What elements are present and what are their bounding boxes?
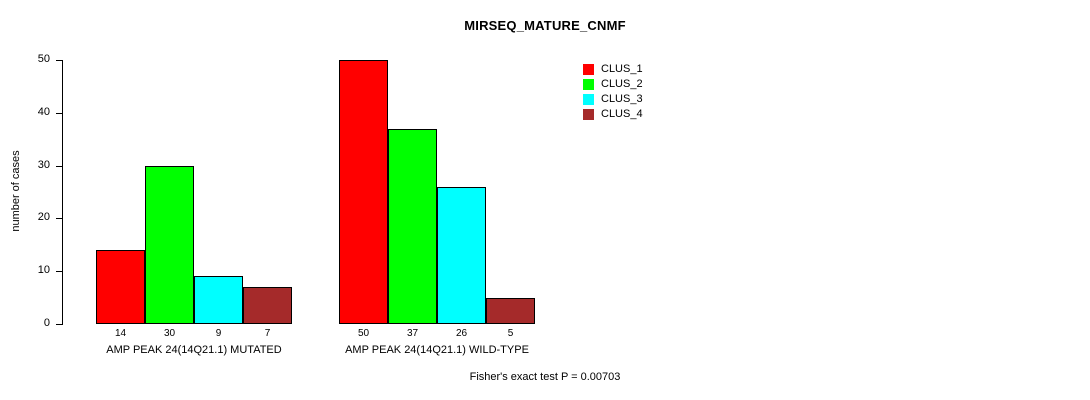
bar-value-label: 7 xyxy=(243,328,292,339)
bar-value-label: 5 xyxy=(486,328,535,339)
legend-item-clus_2[interactable]: CLUS_2 xyxy=(583,77,643,91)
group-label: AMP PEAK 24(14Q21.1) MUTATED xyxy=(96,344,292,356)
bar-clus_4-group2[interactable] xyxy=(486,298,535,324)
legend-swatch-icon xyxy=(583,94,594,105)
legend-swatch-icon xyxy=(583,64,594,75)
statistical-annotation: Fisher's exact test P = 0.00703 xyxy=(0,371,1090,383)
y-axis-tick-label: 40 xyxy=(20,107,50,118)
group-label: AMP PEAK 24(14Q21.1) WILD-TYPE xyxy=(339,344,535,356)
bar-clus_3-group1[interactable] xyxy=(194,276,243,324)
y-axis-tick xyxy=(56,166,63,167)
y-axis-tick-label: 30 xyxy=(20,160,50,171)
bar-clus_2-group1[interactable] xyxy=(145,166,194,324)
bar-value-label: 26 xyxy=(437,328,486,339)
bar-clus_3-group2[interactable] xyxy=(437,187,486,324)
y-axis-tick-label: 50 xyxy=(20,54,50,65)
y-axis-tick xyxy=(56,60,63,61)
y-axis-tick-label: 0 xyxy=(20,318,50,329)
legend-item-clus_4[interactable]: CLUS_4 xyxy=(583,107,643,121)
legend: CLUS_1CLUS_2CLUS_3CLUS_4 xyxy=(583,62,643,122)
y-axis-tick xyxy=(56,324,63,325)
plot-area: number of cases 01020304050 143097503726… xyxy=(0,0,1090,400)
bar-value-label: 50 xyxy=(339,328,388,339)
legend-label: CLUS_1 xyxy=(601,64,643,75)
bar-value-label: 37 xyxy=(388,328,437,339)
legend-swatch-icon xyxy=(583,79,594,90)
y-axis-tick xyxy=(56,271,63,272)
y-axis-tick-label: 20 xyxy=(20,212,50,223)
y-axis-tick-label: 10 xyxy=(20,265,50,276)
legend-item-clus_3[interactable]: CLUS_3 xyxy=(583,92,643,106)
bar-value-label: 9 xyxy=(194,328,243,339)
y-axis-line xyxy=(62,60,63,324)
y-axis-tick xyxy=(56,113,63,114)
bar-value-label: 14 xyxy=(96,328,145,339)
legend-label: CLUS_2 xyxy=(601,79,643,90)
legend-item-clus_1[interactable]: CLUS_1 xyxy=(583,62,643,76)
bar-clus_1-group1[interactable] xyxy=(96,250,145,324)
bar-value-label: 30 xyxy=(145,328,194,339)
bar-clus_2-group2[interactable] xyxy=(388,129,437,324)
legend-label: CLUS_4 xyxy=(601,109,643,120)
bar-clus_1-group2[interactable] xyxy=(339,60,388,324)
legend-label: CLUS_3 xyxy=(601,94,643,105)
bar-clus_4-group1[interactable] xyxy=(243,287,292,324)
legend-swatch-icon xyxy=(583,109,594,120)
y-axis-tick xyxy=(56,218,63,219)
y-axis-label: number of cases xyxy=(10,126,22,256)
